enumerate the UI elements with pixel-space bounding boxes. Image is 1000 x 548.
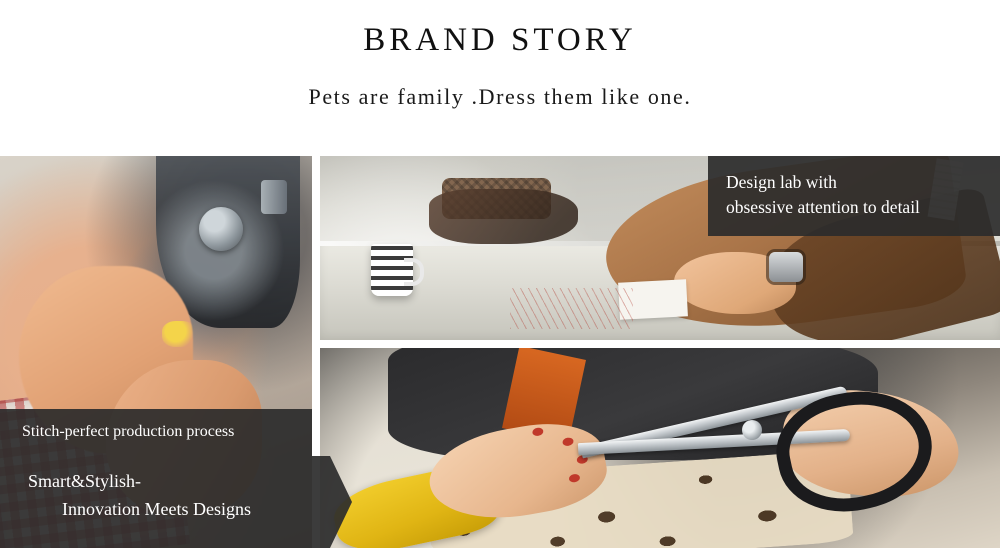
caption-design-line-2: obsessive attention to detail <box>726 195 982 220</box>
caption-smart-line-1: Smart&Stylish- <box>28 468 330 496</box>
caption-stitch-text: Stitch-perfect production process <box>22 423 234 440</box>
thread-spool <box>261 180 287 214</box>
fingernail <box>531 427 543 437</box>
wrist-watch <box>769 252 803 282</box>
caption-design-lab: Design lab with obsessive attention to d… <box>708 156 1000 236</box>
page-subtitle: Pets are family .Dress them like one. <box>0 85 1000 109</box>
photo-panel-design-lab: Design lab with obsessive attention to d… <box>320 156 1000 340</box>
table-clutter <box>429 189 579 244</box>
caption-smart-line-2: Innovation Meets Designs <box>28 496 330 524</box>
photo-panel-cutting <box>320 348 1000 548</box>
caption-design-line-1: Design lab with <box>726 170 982 195</box>
caption-smart-stylish: Smart&Stylish- Innovation Meets Designs <box>0 456 330 548</box>
scissors-pivot-screw <box>742 420 762 440</box>
pattern-markings <box>510 288 632 328</box>
page-header: BRAND STORY Pets are family .Dress them … <box>0 0 1000 109</box>
cutting-photo <box>320 348 1000 548</box>
image-collage: Stitch-perfect production process Design… <box>0 156 1000 548</box>
striped-mug <box>371 244 413 296</box>
page-title: BRAND STORY <box>0 22 1000 58</box>
fingernail <box>568 474 580 484</box>
thread-detail <box>162 321 196 347</box>
caption-stitch-perfect: Stitch-perfect production process <box>0 409 312 456</box>
sewing-machine-dial <box>199 207 243 251</box>
fingernail <box>562 437 574 447</box>
caption-arrow-icon <box>330 456 352 548</box>
